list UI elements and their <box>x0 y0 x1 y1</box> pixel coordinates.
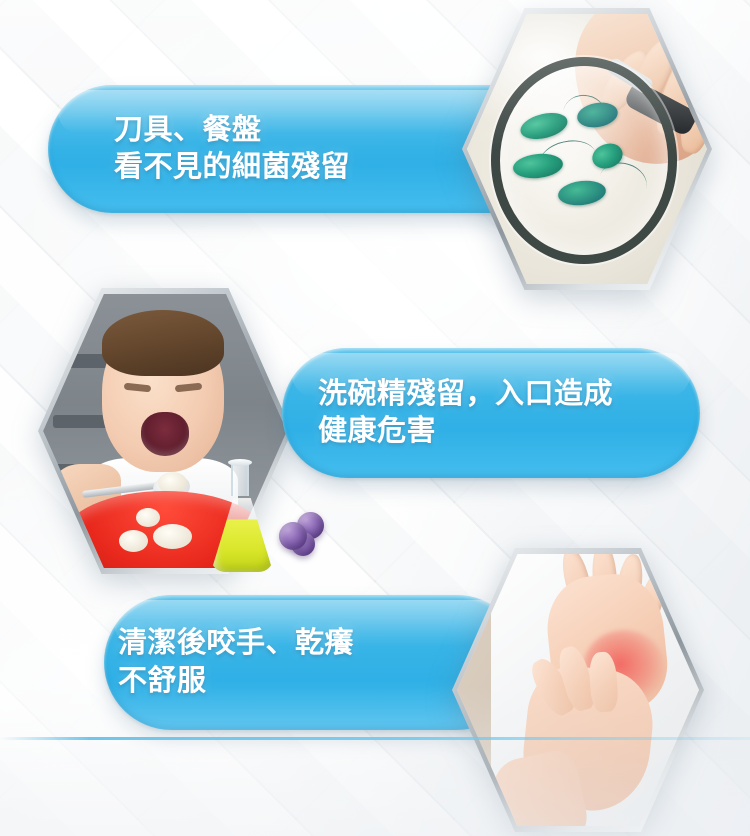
hexagon-frame-3 <box>452 548 704 832</box>
banner-text-3: 清潔後咬手、乾癢 不舒服 <box>118 625 354 699</box>
bottom-accent-line <box>0 737 750 740</box>
flask-lip <box>228 459 252 466</box>
flask-neck <box>231 462 249 496</box>
photo-bacteria-plate <box>467 14 707 285</box>
banner-text-1: 刀具、餐盤 看不見的細菌殘留 <box>114 112 350 186</box>
erlenmeyer-flask-icon <box>211 498 273 572</box>
purple-sphere-icon <box>279 522 307 550</box>
hexagon-photo-3 <box>452 548 704 832</box>
hexagon-image-bacteria <box>467 14 707 285</box>
food-porridge <box>153 524 192 549</box>
hexagon-photo-1 <box>462 8 712 290</box>
banner-text-2: 洗碗精殘留，入口造成 健康危害 <box>318 376 613 450</box>
infographic-poster: 刀具、餐盤 看不見的細菌殘留 <box>0 0 750 836</box>
photo-irritated-hands <box>457 554 699 827</box>
baby-hair <box>102 310 224 376</box>
hexagon-frame-1 <box>462 8 712 290</box>
flask-decoration-group <box>205 462 335 574</box>
hexagon-image-itchy-hand <box>457 554 699 827</box>
banner-pill-2: 洗碗精殘留，入口造成 健康危害 <box>282 348 700 478</box>
food-porridge <box>119 530 148 552</box>
food-porridge <box>136 508 160 527</box>
baby-open-mouth <box>141 412 190 456</box>
